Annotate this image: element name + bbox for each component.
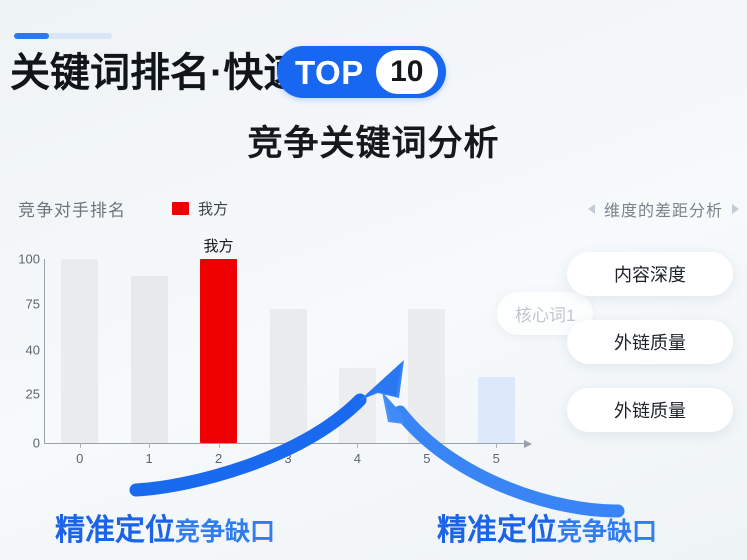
y-axis-labels: 0254075100 — [0, 245, 40, 445]
x-tick-label: 1 — [146, 451, 153, 466]
caption-weak: 竞争缺口 — [557, 512, 657, 548]
x-tick — [427, 443, 428, 448]
badge-label: TOP — [295, 56, 364, 89]
bar[interactable] — [478, 377, 515, 443]
x-tick — [357, 443, 358, 448]
legend-swatch-icon — [172, 202, 189, 215]
y-tick-label: 100 — [2, 252, 40, 267]
decor-progress-bar — [14, 33, 112, 39]
legend-item-mine: 我方 — [172, 198, 228, 219]
badge-value: 10 — [376, 50, 438, 94]
bar[interactable] — [270, 309, 307, 443]
caption-strong: 精准定位 — [55, 505, 175, 549]
x-tick-label: 0 — [76, 451, 83, 466]
dimension-gap-title: 维度的差距分析 — [604, 197, 723, 221]
x-tick — [80, 443, 81, 448]
x-tick — [288, 443, 289, 448]
caption-strong: 精准定位 — [437, 505, 557, 549]
y-tick-label: 0 — [2, 436, 40, 451]
triangle-right-icon — [732, 204, 739, 214]
chart-plot-area — [45, 259, 531, 443]
caption-right: 精准定位 竞争缺口 — [437, 505, 657, 549]
y-tick-label: 25 — [2, 387, 40, 402]
chart-legend: 竞争对手排名 我方 — [18, 196, 228, 221]
dimension-gap-header: 维度的差距分析 — [588, 197, 739, 221]
legend-item-label: 我方 — [198, 198, 228, 219]
bar-highlight[interactable] — [200, 259, 237, 443]
dimension-card-list: 内容深度 外链质量 外链质量 — [567, 252, 733, 432]
x-tick-label: 5 — [423, 451, 430, 466]
dimension-card[interactable]: 外链质量 — [567, 388, 733, 432]
dimension-card[interactable]: 外链质量 — [567, 320, 733, 364]
x-tick — [149, 443, 150, 448]
caption-left: 精准定位 竞争缺口 — [55, 505, 275, 549]
x-tick-label: 4 — [354, 451, 361, 466]
page-title: 竞争关键词分析 — [0, 115, 747, 166]
bar[interactable] — [408, 309, 445, 443]
competitor-bar-chart: 0254075100 012我方3455 — [0, 245, 545, 460]
dimension-card[interactable]: 内容深度 — [567, 252, 733, 296]
bar-value-label: 我方 — [204, 235, 234, 256]
bar[interactable] — [61, 259, 98, 443]
poster-stage: 关键词排名·快速 TOP 10 竞争关键词分析 竞争对手排名 我方 维度的差距分… — [0, 0, 747, 560]
x-tick-label: 5 — [493, 451, 500, 466]
headline-row: 关键词排名·快速 — [10, 45, 303, 101]
headline-text: 关键词排名·快速 — [10, 45, 303, 101]
y-tick-label: 40 — [2, 343, 40, 358]
x-tick-label: 2 — [215, 451, 222, 466]
triangle-left-icon — [588, 204, 595, 214]
bar[interactable] — [131, 276, 168, 443]
x-tick-label: 3 — [284, 451, 291, 466]
bar[interactable] — [339, 368, 376, 443]
x-tick — [496, 443, 497, 448]
x-tick — [219, 443, 220, 448]
chart-legend-title: 竞争对手排名 — [18, 196, 126, 221]
top-rank-badge: TOP 10 — [277, 46, 446, 98]
y-tick-label: 75 — [2, 297, 40, 312]
caption-weak: 竞争缺口 — [175, 512, 275, 548]
